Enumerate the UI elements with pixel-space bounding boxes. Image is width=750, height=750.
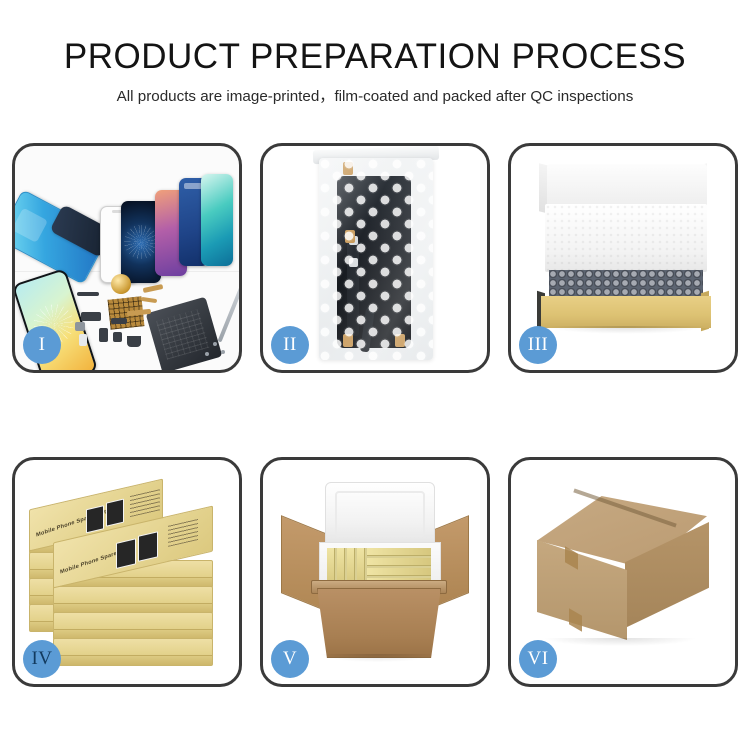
plastic-sheen: [319, 158, 433, 360]
bubble-wrap-bag-image: [319, 158, 433, 360]
box-window-image: [138, 531, 158, 562]
step-badge-3: III: [519, 326, 557, 364]
step-badge-4: IV: [23, 640, 61, 678]
teal-phone-image: [201, 174, 233, 266]
box-spec-lines-image: [168, 518, 198, 547]
flex-cable-image: [141, 297, 157, 303]
drop-shadow: [545, 326, 707, 334]
chip-image: [111, 318, 127, 324]
kraft-box-image: [53, 586, 213, 614]
small-part-image: [99, 328, 108, 342]
foam-sheet-image: [545, 204, 707, 272]
screw-image: [221, 350, 225, 354]
kraft-box-image: [53, 612, 213, 640]
motherboard-image: [146, 297, 223, 370]
process-step-grid: I II: [12, 143, 738, 687]
step-panel-5: V: [260, 457, 490, 687]
step-badge-2: II: [271, 326, 309, 364]
speaker-part-image: [127, 336, 141, 347]
step-panel-6: VI: [508, 457, 738, 687]
box-window-image: [116, 538, 136, 569]
step-panel-3: III: [508, 143, 738, 373]
camera-module-image: [81, 312, 101, 321]
carton-body-image: [317, 588, 441, 658]
product-preparation-infographic: PRODUCT PREPARATION PROCESS All products…: [0, 0, 750, 750]
tweezers-image: [218, 284, 239, 343]
page-title: PRODUCT PREPARATION PROCESS: [0, 36, 750, 78]
bubble-wrapped-contents-image: [549, 270, 703, 298]
step-panel-2: II: [260, 143, 490, 373]
small-part-image: [113, 332, 122, 342]
small-part-image: [75, 322, 85, 331]
foam-box-lid-image: [325, 482, 435, 550]
white-part-image: [79, 334, 87, 346]
screw-image: [213, 342, 217, 346]
speaker-coil-part-image: [111, 274, 131, 294]
flex-cable-image: [143, 284, 164, 293]
box-spec-lines-image: [130, 488, 160, 517]
drop-shadow: [321, 654, 435, 662]
drop-shadow: [545, 638, 695, 646]
kraft-box-image: [53, 638, 213, 666]
header: PRODUCT PREPARATION PROCESS All products…: [0, 36, 750, 107]
step-panel-4: Mobile Phone Spare Parts Mobile Phone Sp…: [12, 457, 242, 687]
box-window-image: [86, 505, 104, 533]
kraft-box-front-image: [541, 296, 711, 328]
step-badge-6: VI: [519, 640, 557, 678]
step-badge-5: V: [271, 640, 309, 678]
screw-image: [205, 352, 209, 356]
page-subtitle: All products are image-printed，film-coat…: [0, 87, 750, 107]
box-window-image: [106, 499, 124, 527]
step-panel-1: I: [12, 143, 242, 373]
step-badge-1: I: [23, 326, 61, 364]
spare-part-image: [77, 292, 99, 296]
